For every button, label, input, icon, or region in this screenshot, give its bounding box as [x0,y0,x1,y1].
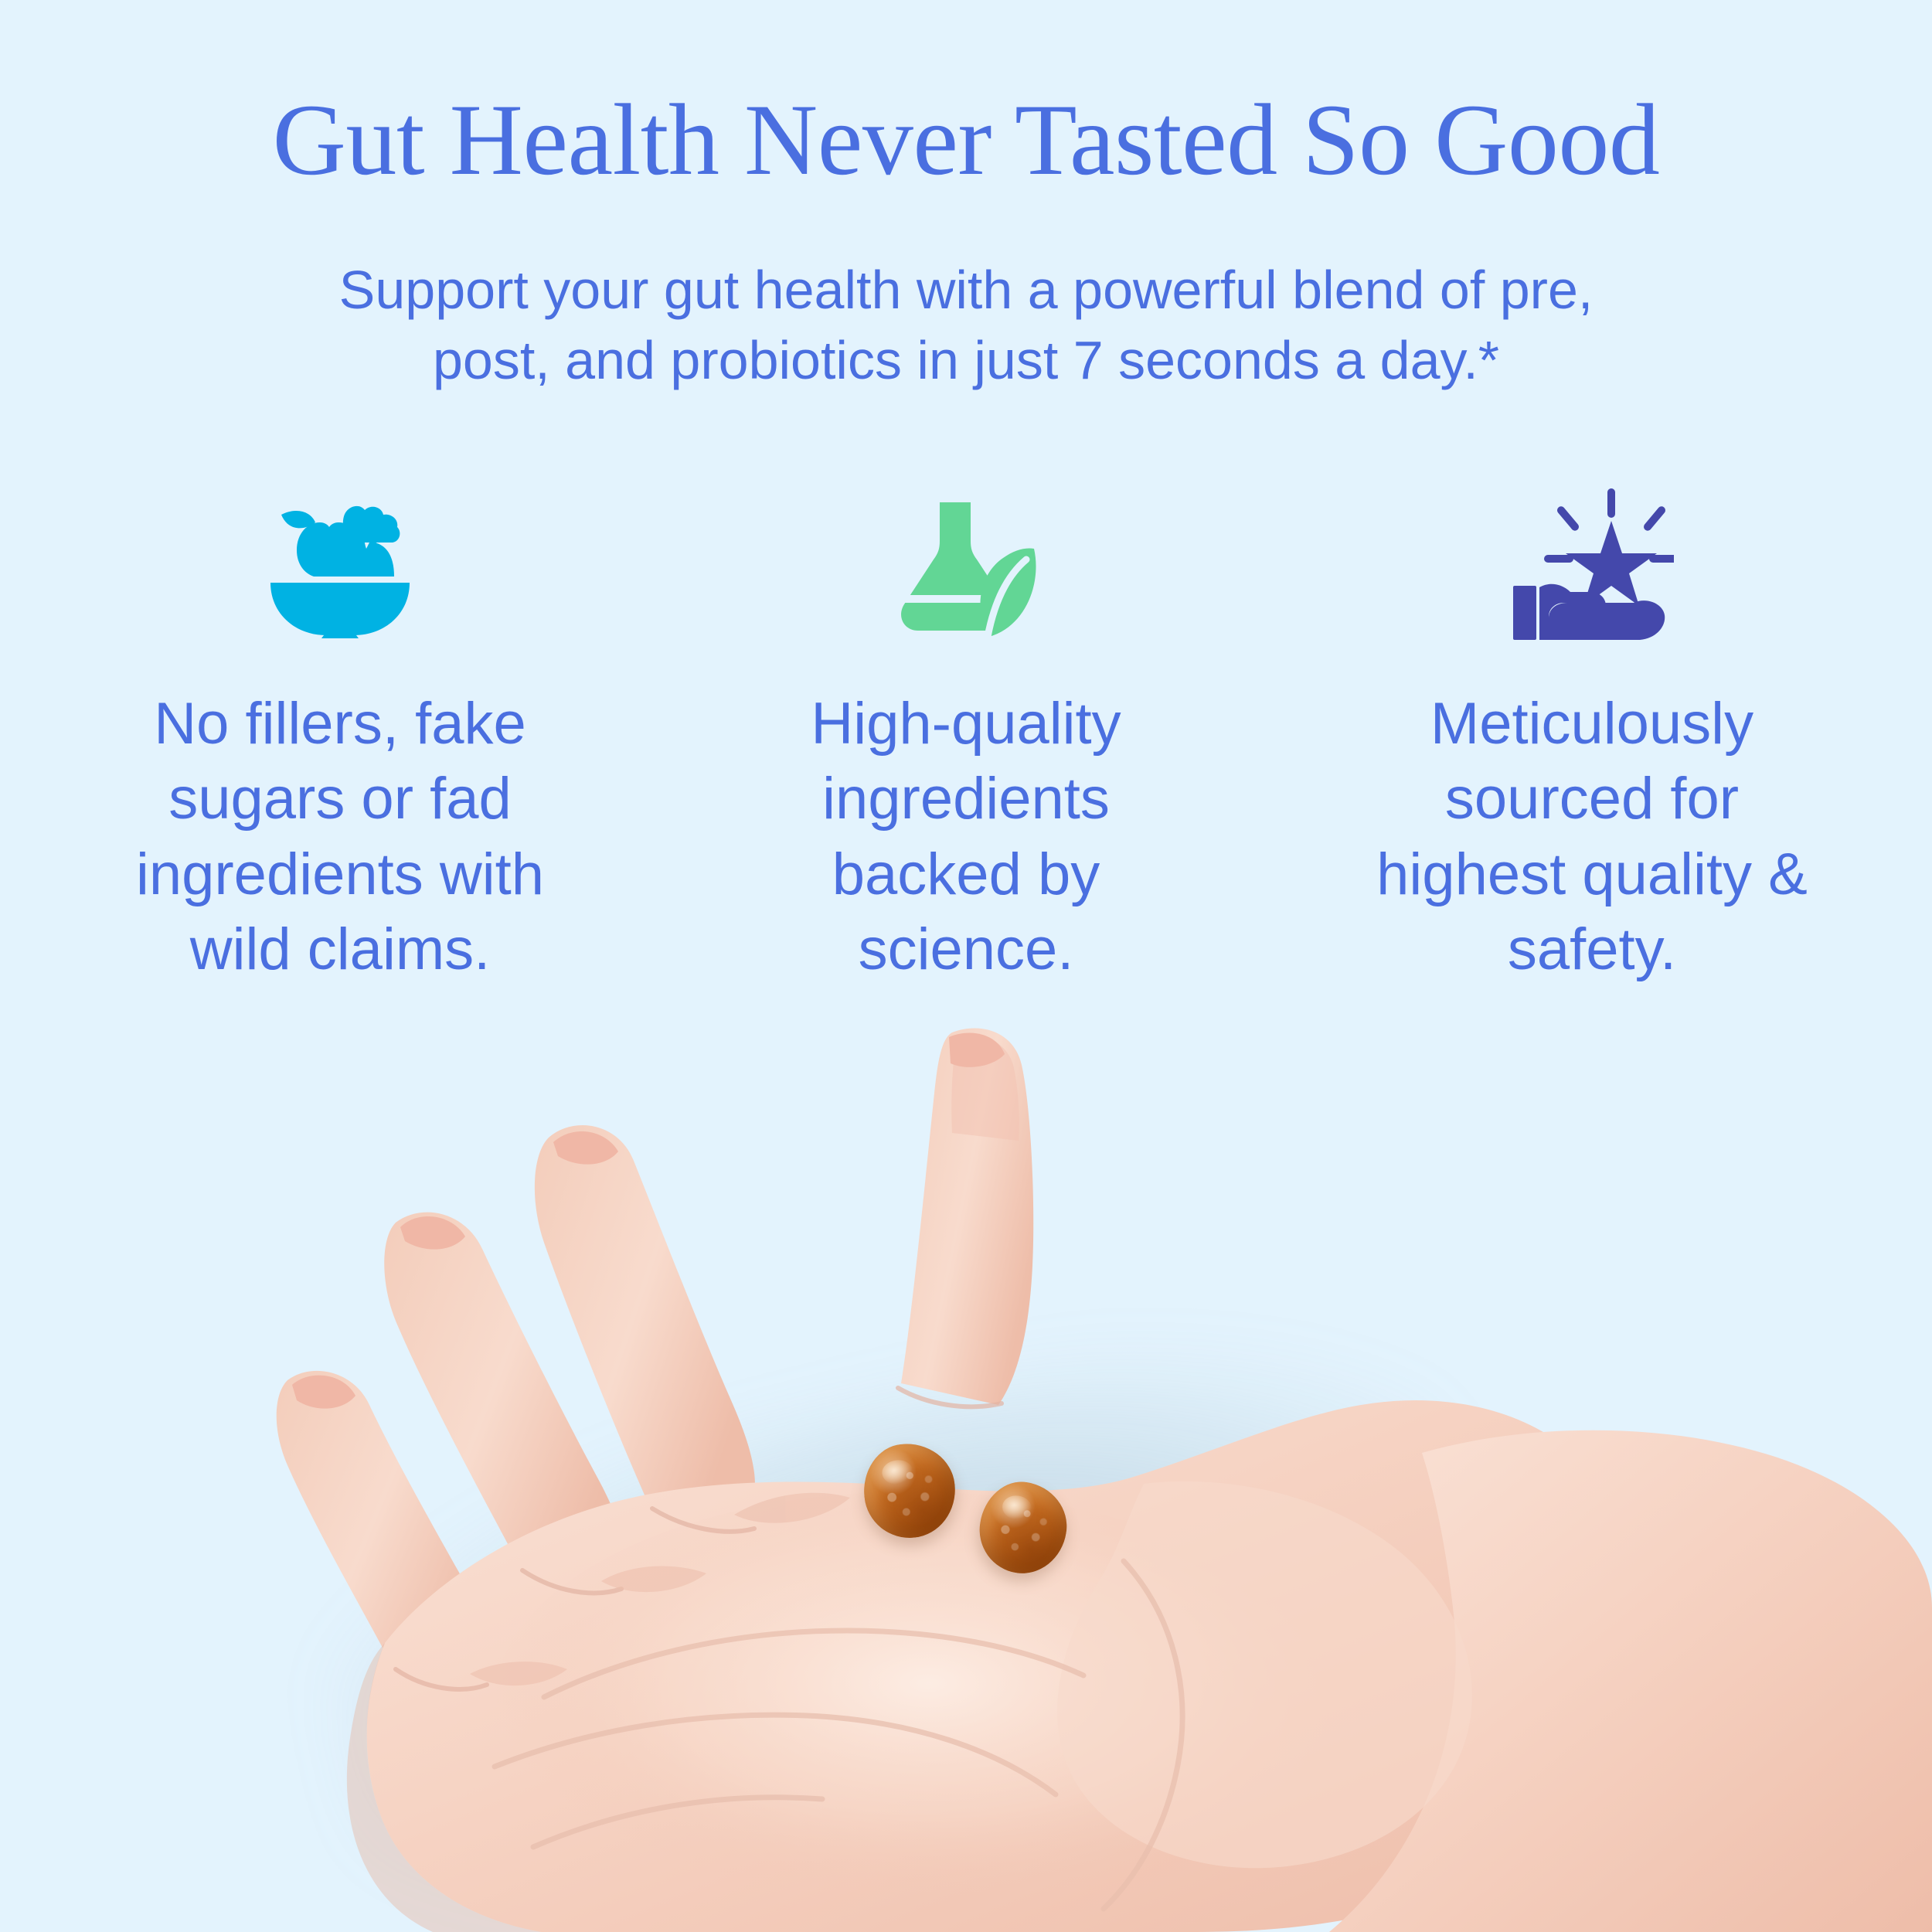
product-photo [0,1020,1932,1932]
flask-leaf-icon [890,487,1042,641]
feature-label: High-quality ingredients backed by scien… [672,686,1260,987]
page-title: Gut Health Never Tasted So Good [0,87,1932,194]
feature-item-no-fillers: No fillers, fake sugars or fad ingredien… [46,487,634,987]
hand-star-icon [1510,487,1674,641]
feature-item-meticulously-sourced: Meticulously sourced for highest quality… [1298,487,1886,987]
feature-label: Meticulously sourced for highest quality… [1298,686,1886,987]
subtitle-line-1: Support your gut health with a powerful … [139,255,1793,325]
feature-item-high-quality: High-quality ingredients backed by scien… [672,487,1260,987]
subtitle-line-2: post, and probiotics in just 7 seconds a… [139,325,1793,396]
page-subtitle: Support your gut health with a powerful … [139,255,1793,396]
fruit-bowl-icon [263,487,417,641]
feature-label: No fillers, fake sugars or fad ingredien… [46,686,634,987]
open-palm-image [0,1020,1932,1932]
feature-list: No fillers, fake sugars or fad ingredien… [46,487,1886,987]
